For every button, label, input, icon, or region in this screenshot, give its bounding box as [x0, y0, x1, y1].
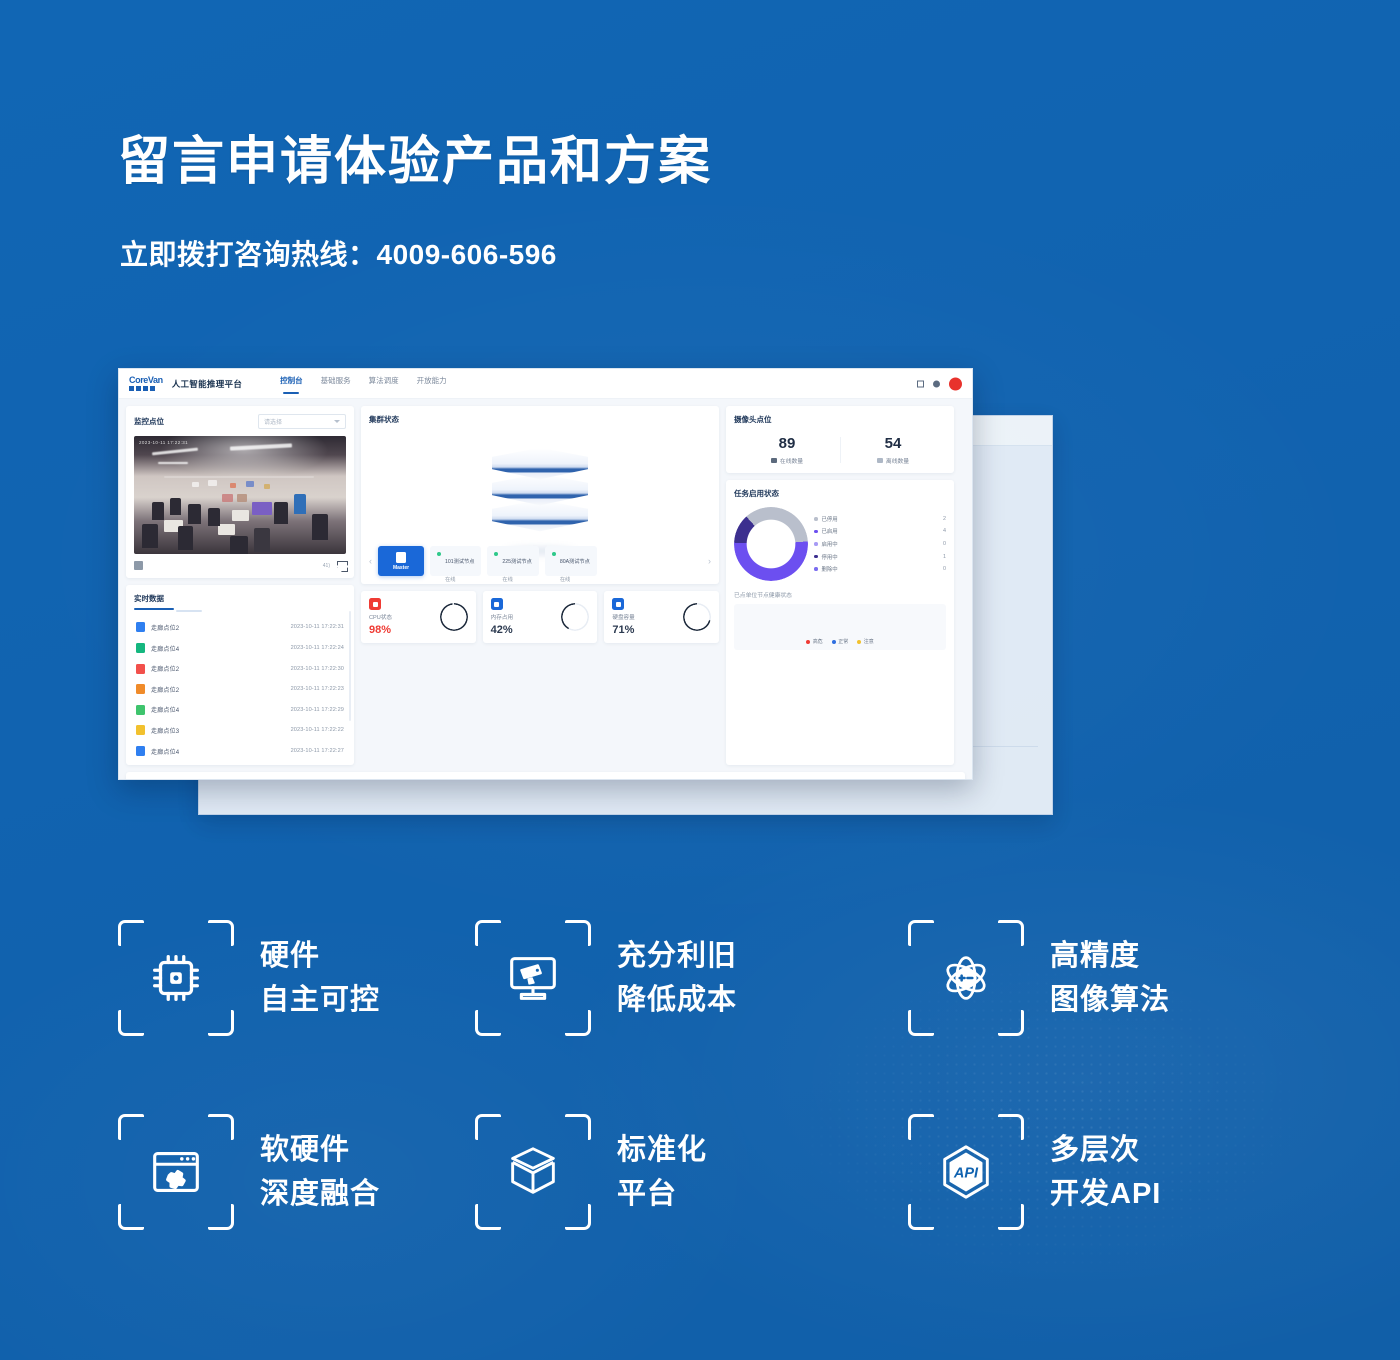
atom-icon	[908, 920, 1024, 1036]
feature-row-1: 硬件 自主可控 充分利旧 降低成本	[0, 920, 1400, 1036]
legend-count: 2	[943, 516, 946, 522]
camera-online-icon	[771, 458, 777, 463]
pause-icon[interactable]	[134, 561, 143, 570]
legend-item: 注意	[857, 638, 874, 645]
expand-icon[interactable]	[337, 561, 346, 570]
cube-box-icon	[475, 1114, 591, 1230]
list-item-time: 2023-10-11 17:22:23	[291, 686, 344, 692]
task-donut-chart	[734, 507, 808, 581]
legend-label: 启用中	[822, 540, 940, 548]
feature-api: API 多层次 开发API	[866, 1114, 1299, 1230]
legend-item: 删除中0	[814, 563, 946, 576]
svg-text:API: API	[953, 1165, 979, 1181]
legend-label: 注意	[864, 638, 874, 645]
alert-type-icon	[136, 746, 145, 756]
metric-value: 42%	[491, 624, 513, 636]
page-title: 留言申请体验产品和方案	[118, 132, 712, 193]
node-name: 225测试节点	[502, 559, 531, 565]
list-item-time: 2023-10-11 17:22:27	[291, 748, 344, 754]
server-stack-icon	[484, 448, 596, 552]
feature-line1: 充分利旧	[617, 940, 737, 972]
minimize-icon[interactable]	[917, 380, 924, 387]
dashboard-screenshot: 54 离线数量 走廊点位4 2023-10-11 17:22:27 CoreVa…	[118, 368, 1053, 823]
realtime-title: 实时数据	[134, 593, 346, 604]
node-name: 101测试节点	[445, 559, 474, 565]
alert-type-icon	[136, 622, 145, 632]
brand-logo-text: CoreVan	[129, 376, 163, 385]
close-icon[interactable]	[949, 377, 962, 390]
alarm-chart-card: 报警统计 长/天 ⌕ 8,000 7,000 6,000 5,000 4,000…	[126, 772, 965, 780]
list-item-name: 走廊点位2	[151, 664, 285, 673]
node-name: 80A测试节点	[560, 559, 590, 565]
api-hexagon-icon: API	[908, 1114, 1024, 1230]
volume-icon[interactable]: 41)	[323, 563, 330, 569]
node-card[interactable]: 101测试节点 在线	[430, 546, 481, 576]
feature-line2: 开发API	[1050, 1172, 1161, 1216]
monitor-camera-icon	[475, 920, 591, 1036]
browser-gear-icon	[118, 1114, 234, 1230]
realtime-data-card: 实时数据 走廊点位2 2023-10-11 17:22:31 走廊点位4 202…	[126, 585, 354, 765]
video-controls: 41)	[134, 561, 346, 570]
app-nav: 控制台 基础服务 算法调度 开放能力	[280, 375, 447, 393]
tab-algorithm-schedule[interactable]: 算法调度	[369, 375, 399, 393]
chevron-right-icon[interactable]: ›	[708, 556, 711, 566]
feature-label: 硬件 自主可控	[260, 934, 380, 1022]
feature-line1: 标准化	[617, 1134, 707, 1166]
alert-type-icon	[136, 664, 145, 674]
feature-line1: 软硬件	[260, 1134, 350, 1166]
tab-basic-service[interactable]: 基础服务	[321, 375, 351, 393]
list-item-time: 2023-10-11 17:22:29	[291, 707, 344, 713]
cluster-node-carousel: ‹ Master 101测试节点 在线	[369, 546, 711, 576]
feature-line1: 硬件	[260, 940, 320, 972]
brand-logo-squares	[129, 386, 163, 391]
legend-label: 已停用	[822, 515, 940, 523]
video-timestamp: 2023-10-11 17:22:31	[139, 440, 188, 445]
dashboard-window: CoreVan 人工智能推理平台 控制台 基础服务 算法调度 开放能力	[118, 368, 973, 780]
feature-label: 标准化 平台	[617, 1128, 707, 1216]
legend-label: 已启用	[822, 527, 940, 535]
monitor-point-select[interactable]: 请选择	[258, 414, 346, 429]
feature-label: 充分利旧 降低成本	[617, 934, 737, 1022]
camera-stat-online: 89 在线数量	[734, 435, 840, 465]
feature-line2: 图像算法	[1050, 978, 1170, 1022]
camera-online-value: 89	[734, 435, 840, 452]
metric-card-memory: 内存占用 42%	[483, 591, 598, 643]
legend-count: 1	[943, 554, 946, 560]
center-column: 集群状态 ‹ Master	[361, 406, 719, 765]
left-column: 监控点位 请选择 2023-10-11 17:22:31	[126, 406, 354, 765]
legend-count: 4	[943, 528, 946, 534]
metric-value: 98%	[369, 624, 392, 636]
camera-points-card: 摄像头点位 89 在线数量 54 离线数量	[726, 406, 954, 473]
metric-ring-disk	[683, 603, 711, 631]
legend-label: 停用中	[822, 553, 940, 561]
realtime-scrollbar[interactable]	[349, 611, 352, 721]
legend-item: 启用中0	[814, 538, 946, 551]
node-card[interactable]: 80A测试节点 在线	[545, 546, 597, 576]
metrics-row: CPU状态 98% 内存占用 42%	[361, 591, 719, 643]
feature-line2: 降低成本	[617, 978, 737, 1022]
alert-type-icon	[136, 684, 145, 694]
legend-item: 高危	[806, 638, 823, 645]
camera-offline-label: 离线数量	[886, 456, 909, 465]
tab-console[interactable]: 控制台	[280, 375, 303, 393]
feature-line2: 自主可控	[260, 978, 380, 1022]
monitor-card: 监控点位 请选择 2023-10-11 17:22:31	[126, 406, 354, 578]
alert-type-icon	[136, 643, 145, 653]
metric-label: 内存占用	[491, 613, 513, 621]
realtime-underline-secondary	[176, 610, 202, 612]
feature-row-2: 软硬件 深度融合 标准化 平台	[0, 1114, 1400, 1230]
list-item-name: 走廊点位2	[151, 623, 285, 632]
feature-line1: 多层次	[1050, 1134, 1140, 1166]
metric-ring-memory	[561, 603, 589, 631]
tab-open-capability[interactable]: 开放能力	[417, 375, 447, 393]
status-dot-icon	[437, 552, 441, 556]
metric-card-cpu: CPU状态 98%	[361, 591, 476, 643]
feature-label: 高精度 图像算法	[1050, 934, 1170, 1022]
right-column: 摄像头点位 89 在线数量 54 离线数量 任务启用状态	[726, 406, 954, 765]
feature-label: 多层次 开发API	[1050, 1128, 1161, 1216]
node-status: 在线	[502, 577, 512, 583]
task-legend: 已停用2 已启用4 启用中0 停用中1 删除中0	[814, 513, 946, 576]
status-dot-icon	[552, 552, 556, 556]
camera-title: 摄像头点位	[734, 414, 946, 425]
legend-count: 0	[943, 566, 946, 572]
maximize-icon[interactable]	[933, 380, 940, 387]
cpu-icon	[369, 598, 381, 610]
feature-standard: 标准化 平台	[433, 1114, 866, 1230]
server-icon	[396, 552, 406, 563]
metric-value: 71%	[612, 624, 634, 636]
legend-item: 停用中1	[814, 550, 946, 563]
list-item-time: 2023-10-11 17:22:24	[291, 645, 344, 651]
cpu-chip-icon	[118, 920, 234, 1036]
chevron-down-icon	[334, 420, 340, 423]
list-item-name: 走廊点位4	[151, 644, 285, 653]
camera-offline-icon	[877, 458, 883, 463]
video-feed[interactable]: 2023-10-11 17:22:31	[134, 436, 346, 554]
feature-line1: 高精度	[1050, 940, 1140, 972]
list-item-name: 走廊点位4	[151, 747, 285, 756]
feature-precision: 高精度 图像算法	[866, 920, 1299, 1036]
feature-hardware: 硬件 自主可控	[0, 920, 433, 1036]
monitor-point-select-value: 请选择	[264, 417, 282, 426]
status-dot-icon	[494, 552, 498, 556]
metric-label: CPU状态	[369, 613, 392, 621]
legend-label: 正常	[838, 638, 848, 645]
camera-offline-value: 54	[840, 435, 946, 452]
metric-card-disk: 硬盘容量 71%	[604, 591, 719, 643]
list-item[interactable]: 走廊点位4 2023-10-11 17:22:24	[134, 638, 346, 659]
legend-label: 高危	[813, 638, 823, 645]
realtime-underline	[134, 608, 174, 610]
list-item[interactable]: 走廊点位2 2023-10-11 17:22:31	[134, 617, 346, 638]
health-status-title: 已点单位节点健康状态	[734, 590, 946, 599]
camera-online-label: 在线数量	[780, 456, 803, 465]
list-item-name: 走廊点位3	[151, 726, 285, 735]
list-item[interactable]: 走廊点位4 2023-10-11 17:22:27	[134, 741, 346, 762]
feature-label: 软硬件 深度融合	[260, 1128, 380, 1216]
app-name: 人工智能推理平台	[172, 378, 242, 390]
task-status-card: 任务启用状态 已停用2 已启用4 启用中0 停用中1 删除中0	[726, 480, 954, 765]
list-item-time: 2023-10-11 17:22:30	[291, 666, 344, 672]
monitor-title: 监控点位	[134, 416, 164, 427]
brand-logo: CoreVan	[129, 376, 163, 391]
alert-type-icon	[136, 705, 145, 715]
legend-count: 0	[943, 541, 946, 547]
chevron-left-icon[interactable]: ‹	[369, 556, 372, 566]
legend-label: 删除中	[822, 565, 940, 573]
legend-item: 已停用2	[814, 513, 946, 526]
legend-item: 已启用4	[814, 525, 946, 538]
node-status: 在线	[445, 577, 455, 583]
node-status: 在线	[560, 577, 570, 583]
health-status-panel: 高危 正常 注意	[734, 604, 946, 650]
cluster-status-card: 集群状态 ‹ Master	[361, 406, 719, 584]
feature-grid: 硬件 自主可控 充分利旧 降低成本	[0, 920, 1400, 1230]
node-card-master[interactable]: Master	[378, 546, 424, 576]
list-item[interactable]: 走廊点位2 2023-10-11 17:22:23	[134, 679, 346, 700]
disk-icon	[612, 598, 624, 610]
feature-integration: 软硬件 深度融合	[0, 1114, 433, 1230]
hotline-text: 立即拨打咨询热线：4009-606-596	[120, 233, 557, 273]
list-item[interactable]: 走廊点位2 2023-10-11 17:22:30	[134, 658, 346, 679]
health-legend: 高危 正常 注意	[734, 638, 946, 645]
metric-ring-cpu	[440, 603, 468, 631]
node-master-label: Master	[393, 565, 409, 571]
memory-icon	[491, 598, 503, 610]
list-item-time: 2023-10-11 17:22:22	[291, 727, 344, 733]
list-item[interactable]: 走廊点位3 2023-10-11 17:22:22	[134, 720, 346, 741]
list-item-name: 走廊点位2	[151, 685, 285, 694]
window-controls	[917, 377, 962, 390]
list-item-time: 2023-10-11 17:22:31	[291, 624, 344, 630]
task-title: 任务启用状态	[734, 488, 946, 499]
list-item[interactable]: 走廊点位4 2023-10-11 17:22:29	[134, 700, 346, 721]
alert-type-icon	[136, 725, 145, 735]
list-item-name: 走廊点位4	[151, 705, 285, 714]
metric-label: 硬盘容量	[612, 613, 634, 621]
feature-reuse: 充分利旧 降低成本	[433, 920, 866, 1036]
feature-line2: 平台	[617, 1172, 707, 1216]
legend-item: 正常	[832, 638, 849, 645]
node-card[interactable]: 225测试节点 在线	[487, 546, 538, 576]
camera-stat-offline: 54 离线数量	[840, 435, 946, 465]
app-titlebar: CoreVan 人工智能推理平台 控制台 基础服务 算法调度 开放能力	[119, 369, 972, 399]
cluster-title: 集群状态	[369, 414, 711, 425]
feature-line2: 深度融合	[260, 1172, 380, 1216]
